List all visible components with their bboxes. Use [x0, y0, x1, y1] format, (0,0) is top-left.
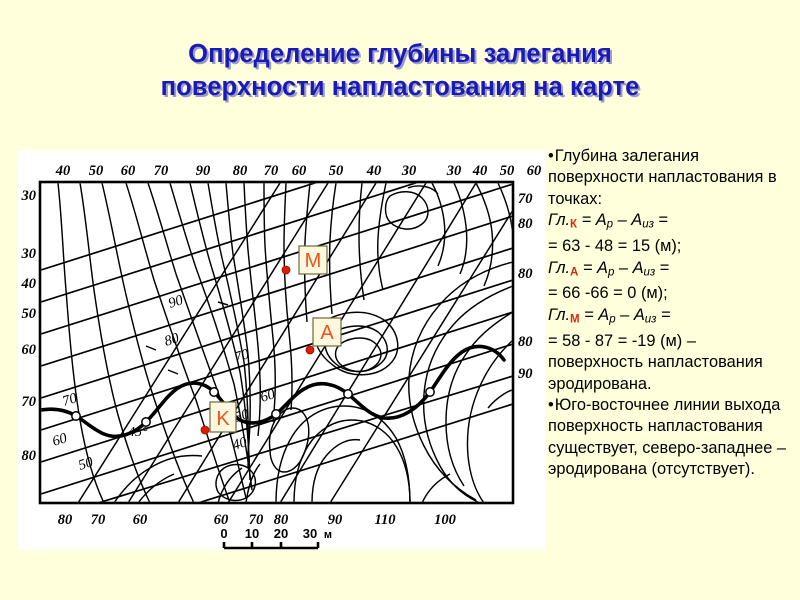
left-label-4: 60 — [22, 342, 37, 358]
bottom-label-6: 90 — [328, 512, 343, 528]
scale-unit: м — [324, 529, 332, 541]
formula-a-sub-iz: из — [644, 266, 656, 278]
note-bullet-2: Юго-восточнее линии выхода поверхность н… — [548, 395, 798, 481]
scale-tick-3: 30 — [303, 526, 317, 541]
formula-a-minus: – A — [614, 259, 643, 277]
formula-m-minus: – A — [616, 306, 645, 324]
point-label-a: A — [320, 322, 334, 344]
point-label-m: M — [305, 250, 322, 272]
formula-k-name: Гл. — [548, 211, 570, 229]
bottom-label-2: 60 — [133, 512, 148, 528]
top-label-11: 30 — [446, 163, 462, 179]
map-svg: 90 80 70 60 50 40 70 60 50 45° 40 50 60 … — [18, 150, 545, 550]
right-label-3: 80 — [518, 334, 533, 350]
scale-tick-2: 20 — [274, 526, 288, 541]
formula-k-equals: = — [654, 211, 668, 229]
bottom-label-1: 70 — [91, 512, 106, 528]
formula-a: Гл.А = Aр – Aиз = — [548, 258, 798, 284]
left-label-0: 30 — [21, 188, 37, 204]
formula-m-expr: = A — [580, 306, 610, 324]
formula-m-sub-iz: из — [645, 313, 657, 325]
formula-k-expr: = A — [577, 211, 607, 229]
left-label-1: 30 — [21, 246, 37, 262]
dip-angle-label: 45° — [128, 425, 148, 440]
top-label-10: 30 — [401, 163, 417, 179]
formula-k: Гл.К = Aр – Aиз = — [548, 210, 798, 236]
top-label-4: 90 — [196, 163, 211, 179]
formula-m-name: Гл. — [548, 306, 570, 324]
left-label-2: 40 — [21, 276, 37, 292]
bottom-label-8: 100 — [434, 512, 456, 528]
left-label-6: 80 — [22, 448, 37, 464]
formula-a-equals: = — [655, 259, 669, 277]
top-label-6: 70 — [264, 163, 279, 179]
slide-root: Определение глубины залегания поверхност… — [0, 0, 800, 600]
top-label-1: 50 — [89, 163, 104, 179]
formula-a-name: Гл. — [548, 259, 570, 277]
formula-m: Гл.М = Aр – Aиз = — [548, 305, 798, 331]
formula-k-minus: – A — [613, 211, 642, 229]
top-label-12: 40 — [472, 163, 488, 179]
right-label-1: 80 — [518, 216, 533, 232]
top-label-3: 70 — [154, 163, 169, 179]
point-marker-a[interactable] — [306, 346, 314, 354]
right-label-2: 80 — [518, 266, 533, 282]
point-label-k: K — [216, 408, 230, 430]
scale-tick-1: 10 — [245, 526, 259, 541]
right-label-0: 70 — [518, 191, 533, 207]
top-label-9: 40 — [366, 163, 382, 179]
bottom-label-0: 80 — [58, 512, 73, 528]
top-label-2: 60 — [121, 163, 136, 179]
top-label-14: 60 — [527, 163, 542, 179]
formula-a-result: = 66 -66 = 0 (м); — [548, 283, 798, 304]
note-bullet-1: Глубина залегания поверхности напластова… — [548, 146, 798, 210]
top-label-0: 40 — [55, 163, 71, 179]
left-label-3: 50 — [22, 306, 37, 322]
formula-m-subscript: М — [570, 313, 580, 325]
geological-map-figure: 90 80 70 60 50 40 70 60 50 45° 40 50 60 … — [18, 150, 545, 550]
formula-m-result: = 58 - 87 = -19 (м) – — [548, 331, 798, 352]
point-marker-k[interactable] — [201, 426, 209, 434]
top-label-8: 50 — [329, 163, 344, 179]
page-title-line-1: Определение глубины залегания — [70, 38, 730, 71]
formula-k-sub-iz: из — [642, 219, 654, 231]
top-label-7: 60 — [292, 163, 307, 179]
point-marker-m[interactable] — [282, 266, 290, 274]
formula-k-subscript: К — [570, 219, 577, 231]
page-title: Определение глубины залегания поверхност… — [70, 38, 730, 104]
formula-a-expr: = A — [578, 259, 608, 277]
top-label-5: 80 — [233, 163, 248, 179]
formula-k-result: = 63 - 48 = 15 (м); — [548, 236, 798, 257]
left-label-5: 70 — [22, 394, 37, 410]
right-label-4: 90 — [518, 366, 533, 382]
explanation-panel: Глубина залегания поверхности напластова… — [548, 146, 798, 481]
formula-m-equals: = — [657, 306, 671, 324]
bottom-label-7: 110 — [375, 512, 396, 528]
scale-tick-0: 0 — [220, 526, 227, 541]
page-title-line-2: поверхности напластования на карте — [70, 71, 730, 104]
formula-m-conclusion: поверхность напластования эродирована. — [548, 352, 798, 395]
top-label-13: 50 — [500, 163, 515, 179]
